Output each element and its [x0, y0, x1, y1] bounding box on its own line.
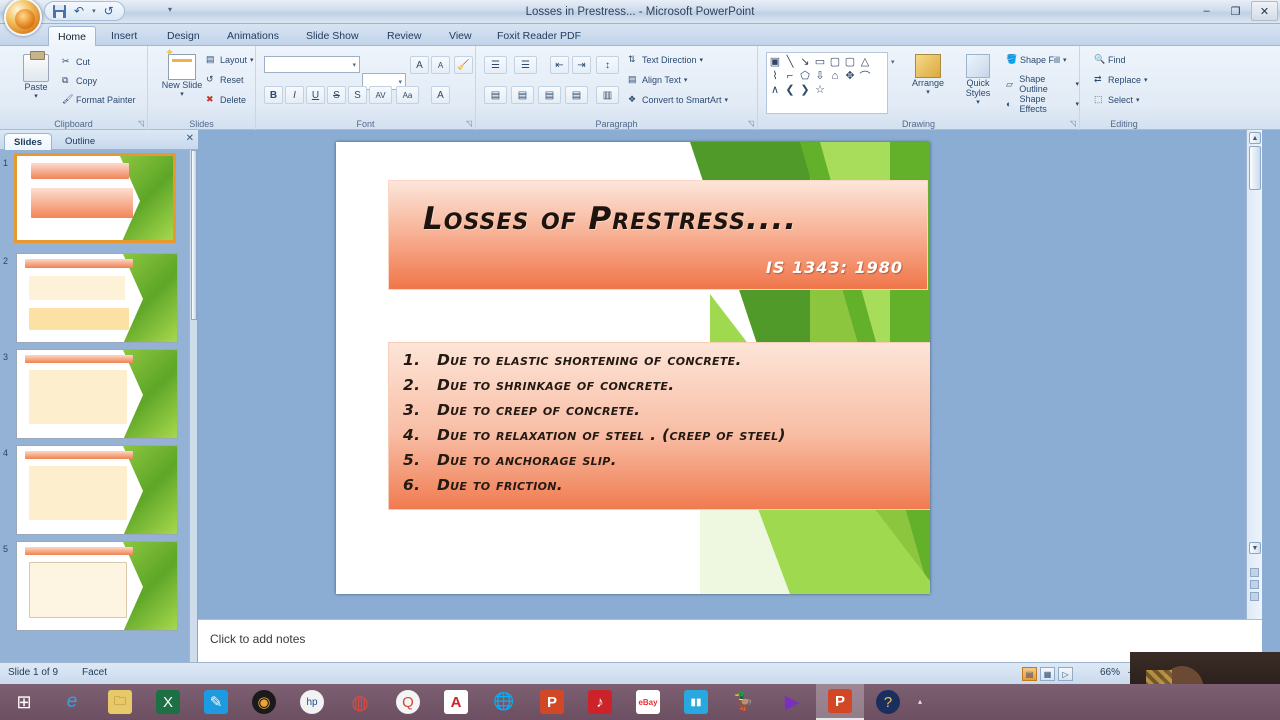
- shape-home-plate-icon[interactable]: ⌂: [828, 69, 842, 82]
- minimize-button[interactable]: –: [1193, 1, 1220, 21]
- shape-right-brace-icon[interactable]: ❯: [798, 83, 812, 96]
- italic-label: I: [293, 90, 296, 101]
- reset-button[interactable]: ↺ Reset: [206, 74, 244, 85]
- bullet-number: 5.: [403, 451, 437, 469]
- taskbar-duck-app[interactable]: 🦆: [720, 684, 768, 720]
- select-icon: ⬚: [1094, 94, 1105, 105]
- play-icon: ▶: [780, 690, 804, 714]
- new-slide-button[interactable]: New Slide ▾: [158, 54, 206, 100]
- bold-label: B: [270, 90, 277, 101]
- clear-formatting-icon: 🧹: [457, 60, 469, 71]
- shapes-more-caret-icon[interactable]: ▾: [891, 58, 895, 66]
- quick-styles-label: Quick Styles: [954, 78, 1002, 98]
- shape-outline-icon: ▱: [1006, 79, 1016, 90]
- increase-indent-icon: ⇥: [577, 60, 585, 71]
- shape-pentagon-icon[interactable]: ⬠: [798, 69, 812, 82]
- bullet-number: 3.: [403, 401, 437, 419]
- shape-left-brace-icon[interactable]: ❮: [783, 83, 797, 96]
- thumb-body-bar: [29, 276, 125, 300]
- ribbon-tab-strip: Home Insert Design Animations Slide Show…: [0, 24, 1280, 46]
- scroll-up-button[interactable]: ▲: [1249, 132, 1261, 144]
- taskbar-powerpoint-alt[interactable]: P: [528, 684, 576, 720]
- ebay-icon: eBay: [636, 690, 660, 714]
- ribbon: Paste ▾ ✂ Cut ⧉ Copy 🖌 Format Painter Cl…: [0, 46, 1280, 130]
- red-app-icon: ♪: [588, 690, 612, 714]
- taskbar-autodesk[interactable]: A: [432, 684, 480, 720]
- slide-edit-area[interactable]: Losses of Prestress.... IS 1343: 1980 1.…: [198, 130, 1262, 662]
- window-controls: – ❐ ✕: [1193, 1, 1278, 21]
- window-title: Losses in Prestress... - Microsoft Power…: [0, 0, 1280, 24]
- taskbar-quicktime[interactable]: Q: [384, 684, 432, 720]
- shape-outline-button[interactable]: ▱ Shape Outline ▾: [1006, 74, 1079, 94]
- shape-rounded-rect-icon[interactable]: ▢: [843, 55, 857, 68]
- autodesk-icon: A: [444, 690, 468, 714]
- taskbar-internet-explorer[interactable]: e: [48, 684, 96, 720]
- status-bar: Slide 1 of 9 Facet ▤ ▦ ▷ 66% – + ⛶: [0, 662, 1280, 684]
- bullet-text: Due to relaxation of steel . (creep of s…: [437, 426, 786, 444]
- powerpoint-window: Losses in Prestress... - Microsoft Power…: [0, 0, 1280, 720]
- slide-subtitle-text: IS 1343: 1980: [766, 258, 903, 277]
- start-icon: ⊞: [12, 690, 36, 714]
- bullet-text: Due to friction.: [437, 476, 563, 494]
- customize-qat-icon[interactable]: ▾: [168, 5, 172, 14]
- tray-expand-icon[interactable]: ▴: [918, 697, 922, 706]
- close-button[interactable]: ✕: [1251, 1, 1278, 21]
- arrange-label: Arrange: [912, 78, 944, 88]
- quick-styles-button[interactable]: Quick Styles ▾: [954, 54, 1002, 108]
- slide-bullet-2: 2.Due to shrinkage of concrete.: [403, 376, 674, 394]
- thumb-body-bar: [29, 370, 127, 424]
- thumb-title-bar: [25, 259, 133, 268]
- thumbnail-item[interactable]: 3: [0, 346, 190, 442]
- columns-icon: ▥: [603, 90, 612, 101]
- taskbar-globe-app[interactable]: 🌐: [480, 684, 528, 720]
- clear-formatting-button[interactable]: 🧹: [454, 56, 473, 74]
- slide-bullet-6: 6.Due to friction.: [403, 476, 563, 494]
- find-button[interactable]: 🔍 Find: [1094, 54, 1126, 65]
- decrease-indent-button[interactable]: ⇤: [550, 56, 569, 74]
- font-color-label: A: [437, 90, 444, 101]
- group-drawing: ▣ ╲ ↘ ▭ ▢ ▢ △ ⌇ ⌐ ⬠ ⇩ ⌂ ✥ ⌒ ∧ ❮ ❯: [758, 46, 1080, 130]
- replace-icon: ⇄: [1094, 74, 1105, 85]
- scroll-thumb[interactable]: [1249, 146, 1261, 190]
- undo-icon[interactable]: ↶: [74, 5, 84, 18]
- bullet-text: Due to creep of concrete.: [437, 401, 640, 419]
- redo-icon[interactable]: ↺: [104, 5, 114, 18]
- arrange-icon: [915, 54, 941, 78]
- convert-smartart-label: Convert to SmartArt: [642, 95, 722, 105]
- clipboard-dialog-launcher[interactable]: ◹: [138, 119, 144, 128]
- powerpoint-icon: P: [828, 689, 852, 713]
- taskbar-chart-app[interactable]: ▮▮: [672, 684, 720, 720]
- underline-label: U: [312, 90, 319, 101]
- shape-elbow-connector-icon[interactable]: ⌐: [783, 69, 797, 82]
- reset-label: Reset: [220, 75, 244, 85]
- thumbnail-number: 5: [3, 544, 8, 554]
- tab-slides[interactable]: Slides: [4, 133, 52, 150]
- thumbnail-item[interactable]: 5: [0, 538, 190, 634]
- shrink-font-label: A: [438, 61, 443, 70]
- justify-button[interactable]: ▤: [565, 86, 588, 104]
- shape-effects-button[interactable]: ◐ Shape Effects ▾: [1006, 94, 1079, 114]
- align-text-caret-icon: ▾: [684, 76, 688, 84]
- find-label: Find: [1108, 55, 1126, 65]
- help-icon: ?: [876, 690, 900, 714]
- numbering-icon: ☰: [521, 60, 530, 71]
- cut-button[interactable]: ✂ Cut: [62, 56, 90, 67]
- smartart-caret-icon: ▾: [725, 96, 729, 104]
- text-direction-icon: ⇅: [628, 54, 639, 65]
- thumb-title-bar: [25, 547, 133, 555]
- group-label-paragraph: Paragraph: [476, 119, 757, 129]
- tab-outline[interactable]: Outline: [56, 133, 104, 150]
- notes-pane[interactable]: Click to add notes: [198, 619, 1262, 664]
- restore-button[interactable]: ❐: [1222, 1, 1249, 21]
- align-right-icon: ▤: [545, 90, 554, 101]
- slides-pane-scroll-thumb[interactable]: [191, 150, 197, 320]
- duck-icon: 🦆: [732, 690, 756, 714]
- slides-pane: Slides Outline ✕ 1 2: [0, 130, 198, 662]
- tab-design[interactable]: Design: [158, 26, 209, 46]
- shape-chevron-icon[interactable]: ∧: [768, 83, 782, 96]
- chart-icon: ▮▮: [684, 690, 708, 714]
- paste-icon: [23, 54, 49, 82]
- cut-label: Cut: [76, 57, 90, 67]
- shape-fill-label: Shape Fill: [1020, 55, 1060, 65]
- find-icon: 🔍: [1094, 54, 1105, 65]
- bullets-icon: ☰: [491, 60, 500, 71]
- thumb-title-bar: [25, 355, 133, 363]
- thumbnail-slide-5[interactable]: [16, 541, 178, 631]
- shape-curve-icon[interactable]: ⌇: [768, 69, 782, 82]
- line-spacing-button[interactable]: ↕: [596, 56, 619, 74]
- thumb-theme-art: [123, 446, 177, 534]
- next-slide-button[interactable]: [1250, 580, 1259, 589]
- previous-slide-button[interactable]: [1250, 568, 1259, 577]
- taskbar-hp-support[interactable]: hp: [288, 684, 336, 720]
- font-size-caret-icon: ▾: [398, 78, 402, 86]
- thumbnail-number: 4: [3, 448, 8, 458]
- shape-arc-icon[interactable]: ⌒: [858, 69, 872, 82]
- layout-caret-icon: ▾: [250, 56, 254, 64]
- thumb-title-bar: [25, 451, 133, 459]
- copy-button[interactable]: ⧉ Copy: [62, 75, 97, 86]
- view-normal-button[interactable]: ▤: [1022, 667, 1037, 681]
- taskbar: ⊞ e 🗀 X ✎ ◉ hp ◍ Q A 🌐 P ♪ eBay ▮▮ 🦆 ▶ P…: [0, 684, 1280, 720]
- shape-oval-icon[interactable]: ▢: [828, 55, 842, 68]
- notes-placeholder: Click to add notes: [210, 632, 305, 646]
- text-shadow-button[interactable]: S: [348, 86, 367, 104]
- shape-arrow-icon[interactable]: ↘: [798, 55, 812, 68]
- align-left-icon: ▤: [491, 90, 500, 101]
- select-button[interactable]: ⬚ Select ▾: [1094, 94, 1140, 105]
- hp-icon: hp: [300, 690, 324, 714]
- slide-area-scrollbar[interactable]: ▲ ▼: [1246, 130, 1262, 662]
- align-text-icon: ▤: [628, 74, 639, 85]
- view-sorter-button[interactable]: ▦: [1040, 667, 1055, 681]
- font-name-caret-icon: ▾: [352, 61, 356, 69]
- chrome-icon: ◍: [348, 690, 372, 714]
- taskbar-media-player[interactable]: ◉: [240, 684, 288, 720]
- align-left-button[interactable]: ▤: [484, 86, 507, 104]
- thumbnail-item[interactable]: 2: [0, 250, 190, 346]
- delete-icon: ✖: [206, 94, 217, 105]
- underline-button[interactable]: U: [306, 86, 325, 104]
- thumbnail-slide-4[interactable]: [16, 445, 178, 535]
- shape-effects-icon: ◐: [1006, 99, 1016, 110]
- shape-line-icon[interactable]: ╲: [783, 55, 797, 68]
- line-spacing-icon: ↕: [605, 60, 610, 71]
- workspace: Slides Outline ✕ 1 2: [0, 130, 1280, 662]
- grow-font-button[interactable]: A: [410, 56, 429, 74]
- new-slide-label: New Slide: [162, 80, 203, 90]
- thumb-theme-art: [123, 350, 177, 438]
- thumbnail-number: 1: [3, 158, 8, 168]
- thumbnail-item[interactable]: 4: [0, 442, 190, 538]
- strikethrough-button[interactable]: S: [327, 86, 346, 104]
- group-label-slides: Slides: [148, 119, 255, 129]
- shape-four-arrow-icon[interactable]: ✥: [843, 69, 857, 82]
- taskbar-ebay[interactable]: eBay: [624, 684, 672, 720]
- office-logo-icon: [15, 9, 35, 29]
- group-label-clipboard: Clipboard: [0, 119, 147, 129]
- slides-pane-scrollbar[interactable]: [189, 150, 197, 662]
- replace-button[interactable]: ⇄ Replace ▾: [1094, 74, 1148, 85]
- arrange-caret-icon: ▾: [926, 88, 930, 98]
- thumbnail-number: 2: [3, 256, 8, 266]
- slide-body-placeholder[interactable]: 1.Due to elastic shortening of concrete.…: [388, 342, 930, 510]
- scissors-icon: ✂: [62, 56, 73, 67]
- powerpoint-alt-icon: P: [540, 690, 564, 714]
- paint-tool-icon: ✎: [204, 690, 228, 714]
- zoom-level[interactable]: 66%: [1100, 667, 1120, 678]
- taskbar-video-player[interactable]: ▶: [768, 684, 816, 720]
- media-player-icon: ◉: [252, 690, 276, 714]
- shape-triangle-icon[interactable]: △: [858, 55, 872, 68]
- font-dialog-launcher[interactable]: ◹: [466, 119, 472, 128]
- taskbar-google-chrome[interactable]: ◍: [336, 684, 384, 720]
- shape-fill-caret-icon: ▾: [1063, 56, 1067, 64]
- new-slide-caret-icon: ▾: [180, 90, 184, 100]
- thumbnail-item[interactable]: 1: [0, 152, 190, 248]
- paintbrush-icon: 🖌: [62, 94, 73, 105]
- font-name-input[interactable]: ▾: [264, 56, 360, 73]
- tab-insert[interactable]: Insert: [102, 26, 146, 46]
- thumb-body-bar-2: [29, 308, 129, 330]
- shape-down-arrow-icon[interactable]: ⇩: [813, 69, 827, 82]
- quick-styles-icon: [966, 54, 990, 78]
- format-painter-label: Format Painter: [76, 95, 136, 105]
- tab-home[interactable]: Home: [48, 26, 96, 46]
- delete-slide-button[interactable]: ✖ Delete: [206, 94, 246, 105]
- shape-rectangle-image-icon[interactable]: ▣: [768, 55, 782, 68]
- text-direction-button[interactable]: ⇅ Text Direction ▾: [628, 54, 703, 65]
- increase-indent-button[interactable]: ⇥: [572, 56, 591, 74]
- text-shadow-label: S: [354, 90, 361, 101]
- copy-icon: ⧉: [62, 75, 73, 86]
- thumb-table: [29, 562, 127, 618]
- paste-button[interactable]: Paste ▾: [14, 54, 58, 102]
- save-icon[interactable]: [53, 5, 66, 18]
- paragraph-dialog-launcher[interactable]: ◹: [748, 119, 754, 128]
- reset-icon: ↺: [206, 74, 217, 85]
- smartart-icon: ❖: [628, 94, 639, 105]
- select-caret-icon: ▾: [1136, 96, 1140, 104]
- slide-title-placeholder[interactable]: Losses of Prestress.... IS 1343: 1980: [388, 180, 928, 290]
- quick-access-toolbar: ↶ ▾ ↺: [44, 1, 125, 21]
- thumbnail-slide-3[interactable]: [16, 349, 178, 439]
- decrease-indent-icon: ⇤: [555, 60, 563, 71]
- strikethrough-label: S: [333, 90, 340, 101]
- taskbar-excel[interactable]: X: [144, 684, 192, 720]
- text-direction-label: Text Direction: [642, 55, 697, 65]
- group-paragraph: ☰ ☰ ⇤ ⇥ ↕ ⇅ Text Direction ▾ ▤ Align Tex…: [476, 46, 758, 130]
- tab-animations[interactable]: Animations: [218, 26, 288, 46]
- align-text-button[interactable]: ▤ Align Text ▾: [628, 74, 687, 85]
- replace-label: Replace: [1108, 75, 1141, 85]
- thumb-theme-art: [123, 542, 177, 630]
- tab-foxit-reader-pdf[interactable]: Foxit Reader PDF: [488, 26, 590, 46]
- align-center-button[interactable]: ▤: [511, 86, 534, 104]
- layout-button[interactable]: ▤ Layout ▾: [206, 54, 254, 65]
- theme-name: Facet: [82, 667, 107, 678]
- paste-label: Paste: [24, 82, 47, 92]
- shape-fill-button[interactable]: 🪣 Shape Fill ▾: [1006, 54, 1067, 65]
- view-slideshow-button[interactable]: ▷: [1058, 667, 1073, 681]
- taskbar-start-button[interactable]: ⊞: [0, 684, 48, 720]
- thumb-body-bar: [29, 466, 127, 520]
- taskbar-help-app[interactable]: ?: [864, 684, 912, 720]
- numbering-button[interactable]: ☰: [514, 56, 537, 74]
- group-font: ▾ ▾ A A 🧹 B I U S: [256, 46, 476, 130]
- bullet-number: 6.: [403, 476, 437, 494]
- tab-view[interactable]: View: [440, 26, 481, 46]
- bullet-text: Due to elastic shortening of concrete.: [437, 351, 742, 369]
- bullet-number: 4.: [403, 426, 437, 444]
- thumbnail-slide-2[interactable]: [16, 253, 178, 343]
- slide-counter: Slide 1 of 9: [8, 667, 58, 678]
- select-browse-object-button[interactable]: [1250, 592, 1259, 601]
- shape-outline-label: Shape Outline: [1019, 74, 1072, 94]
- change-case-label: Aa: [403, 91, 413, 100]
- format-painter-button[interactable]: 🖌 Format Painter: [62, 94, 136, 105]
- undo-dropdown-icon[interactable]: ▾: [92, 7, 96, 15]
- layout-icon: ▤: [206, 54, 217, 65]
- shape-rectangle-icon[interactable]: ▭: [813, 55, 827, 68]
- shape-effects-caret-icon: ▾: [1075, 100, 1079, 108]
- paste-caret-icon: ▾: [34, 92, 38, 102]
- align-right-button[interactable]: ▤: [538, 86, 561, 104]
- group-slides: New Slide ▾ ▤ Layout ▾ ↺ Reset ✖ Delete …: [148, 46, 256, 130]
- group-clipboard: Paste ▾ ✂ Cut ⧉ Copy 🖌 Format Painter Cl…: [0, 46, 148, 130]
- close-pane-button[interactable]: ✕: [186, 133, 194, 144]
- slides-pane-tabs: Slides Outline ✕: [0, 130, 198, 150]
- columns-button[interactable]: ▥: [596, 86, 619, 104]
- group-label-editing: Editing: [1080, 119, 1168, 129]
- scroll-down-button[interactable]: ▼: [1249, 542, 1261, 554]
- excel-icon: X: [156, 690, 180, 714]
- group-label-drawing: Drawing: [758, 119, 1079, 129]
- taskbar-paint-tool[interactable]: ✎: [192, 684, 240, 720]
- slide-bullet-5: 5.Due to anchorage slip.: [403, 451, 617, 469]
- globe-icon: 🌐: [492, 690, 516, 714]
- taskbar-powerpoint-active[interactable]: P: [816, 684, 864, 720]
- thumbnail-number: 3: [3, 352, 8, 362]
- text-direction-caret-icon: ▾: [700, 56, 704, 64]
- title-bar: Losses in Prestress... - Microsoft Power…: [0, 0, 1280, 24]
- character-spacing-label: AV: [375, 91, 385, 100]
- bullet-text: Due to anchorage slip.: [437, 451, 617, 469]
- thumb-body-bar: [31, 188, 133, 218]
- font-color-button[interactable]: A: [431, 86, 450, 104]
- change-case-button[interactable]: Aa: [396, 86, 419, 104]
- align-text-label: Align Text: [642, 75, 681, 85]
- current-slide[interactable]: Losses of Prestress.... IS 1343: 1980 1.…: [336, 142, 930, 594]
- slide-bullet-3: 3.Due to creep of concrete.: [403, 401, 640, 419]
- shrink-font-button[interactable]: A: [431, 56, 450, 74]
- taskbar-file-explorer[interactable]: 🗀: [96, 684, 144, 720]
- quick-styles-caret-icon: ▾: [976, 98, 980, 108]
- bullet-text: Due to shrinkage of concrete.: [437, 376, 674, 394]
- file-explorer-icon: 🗀: [108, 690, 132, 714]
- copy-label: Copy: [76, 76, 97, 86]
- new-slide-icon: [168, 54, 196, 80]
- justify-icon: ▤: [572, 90, 581, 101]
- group-editing: 🔍 Find ⇄ Replace ▾ ⬚ Select ▾ Editing: [1080, 46, 1280, 130]
- slide-title-text: Losses of Prestress....: [423, 201, 797, 237]
- tab-review[interactable]: Review: [378, 26, 430, 46]
- layout-label: Layout: [220, 55, 247, 65]
- arrange-button[interactable]: Arrange ▾: [904, 54, 952, 98]
- shape-fill-icon: 🪣: [1006, 54, 1017, 65]
- grow-font-label: A: [416, 60, 423, 71]
- tab-slide-show[interactable]: Slide Show: [297, 26, 368, 46]
- taskbar-red-app[interactable]: ♪: [576, 684, 624, 720]
- align-center-icon: ▤: [518, 90, 527, 101]
- shape-outline-caret-icon: ▾: [1075, 80, 1079, 88]
- quicktime-icon: Q: [396, 690, 420, 714]
- slide-bullet-1: 1.Due to elastic shortening of concrete.: [403, 351, 742, 369]
- drawing-dialog-launcher[interactable]: ◹: [1070, 119, 1076, 128]
- italic-button[interactable]: I: [285, 86, 304, 104]
- shape-effects-label: Shape Effects: [1019, 94, 1072, 114]
- internet-explorer-icon: e: [60, 690, 84, 714]
- thumb-title-bar: [31, 163, 129, 179]
- bullet-number: 1.: [403, 351, 437, 369]
- select-label: Select: [1108, 95, 1133, 105]
- slide-thumbnail-list[interactable]: 1 2: [0, 150, 190, 662]
- bold-button[interactable]: B: [264, 86, 283, 104]
- shapes-gallery[interactable]: ▣ ╲ ↘ ▭ ▢ ▢ △ ⌇ ⌐ ⬠ ⇩ ⌂ ✥ ⌒ ∧ ❮ ❯: [766, 52, 888, 114]
- delete-label: Delete: [220, 95, 246, 105]
- shape-star-icon[interactable]: ☆: [813, 83, 827, 96]
- character-spacing-button[interactable]: AV: [369, 86, 392, 104]
- group-label-font: Font: [256, 119, 475, 129]
- bullet-number: 2.: [403, 376, 437, 394]
- convert-smartart-button[interactable]: ❖ Convert to SmartArt ▾: [628, 94, 728, 105]
- replace-caret-icon: ▾: [1144, 76, 1148, 84]
- thumbnail-slide-1[interactable]: [14, 153, 176, 243]
- bullets-button[interactable]: ☰: [484, 56, 507, 74]
- slide-bullet-4: 4.Due to relaxation of steel . (creep of…: [403, 426, 786, 444]
